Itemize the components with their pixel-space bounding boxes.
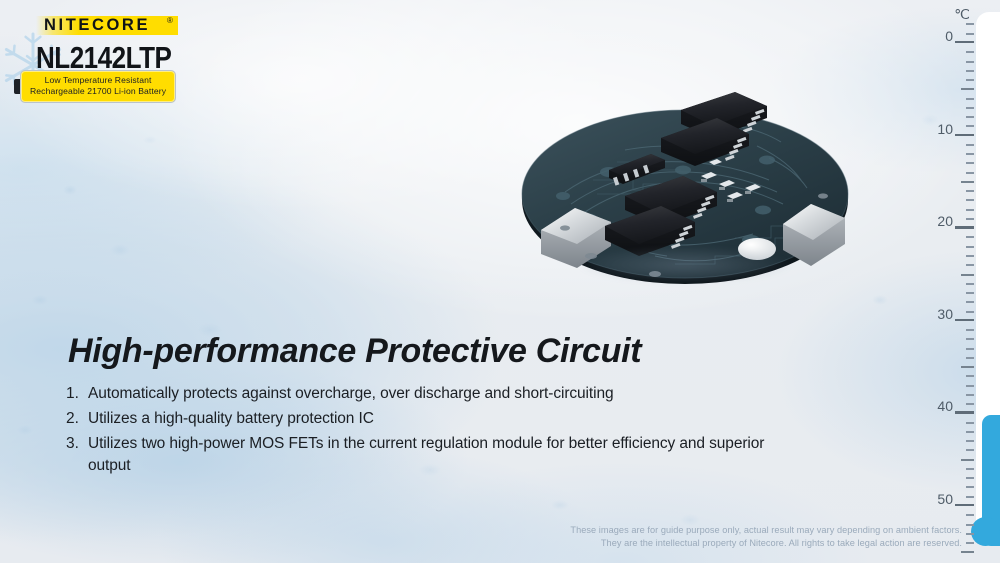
thermometer-tick-mid — [961, 366, 974, 368]
thermometer-tick-minor — [966, 394, 974, 396]
thermometer-tick-minor — [966, 61, 974, 63]
thermometer-tick-major — [955, 226, 974, 228]
thermometer-tick-minor — [966, 144, 974, 146]
thermometer-tick-mid — [961, 551, 974, 553]
thermometer-tick-minor — [966, 116, 974, 118]
thermometer-tick-minor — [966, 153, 974, 155]
pcb-drop-shadow — [535, 238, 835, 292]
product-slide: NITECORE ® NL2142LTP Low Temperature Res… — [0, 0, 1000, 563]
list-item: 3. Utilizes two high-power MOS FETs in t… — [66, 433, 766, 477]
thermometer-tick-mid — [961, 88, 974, 90]
thermometer-tick-minor — [966, 514, 974, 516]
list-item-text: Utilizes two high-power MOS FETs in the … — [88, 433, 766, 477]
badge-line-2: Rechargeable 21700 Li-ion Battery — [30, 86, 166, 97]
thermometer-tick-label: 50 — [937, 491, 953, 507]
thermometer-tick-minor — [966, 375, 974, 377]
feature-list: 1. Automatically protects against overch… — [66, 383, 766, 480]
thermometer-tick-major — [955, 411, 974, 413]
thermometer-tick-minor — [966, 23, 974, 25]
thermometer-tick-minor — [966, 311, 974, 313]
disclaimer: These images are for guide purpose only,… — [402, 524, 962, 549]
list-item-text: Automatically protects against overcharg… — [88, 383, 614, 405]
thermometer-tick-label: 0 — [945, 28, 953, 44]
thermometer-tick-mid — [961, 274, 974, 276]
pcb-illustration — [505, 88, 865, 303]
thermometer-tick-minor — [966, 70, 974, 72]
list-item: 1. Automatically protects against overch… — [66, 383, 766, 405]
list-item-number: 3. — [66, 433, 88, 455]
registered-trademark-icon: ® — [167, 16, 173, 26]
thermometer-tick-minor — [966, 496, 974, 498]
thermometer-tick-major — [955, 319, 974, 321]
thermometer-tick-minor — [966, 162, 974, 164]
page-title: High-performance Protective Circuit — [68, 332, 641, 371]
thermometer-tick-minor — [966, 533, 974, 535]
thermometer-tick-minor — [966, 292, 974, 294]
badge-line-1: Low Temperature Resistant — [30, 75, 166, 86]
thermometer-tick-minor — [966, 33, 974, 35]
thermometer-scale: ℃ 01020304050 — [938, 0, 1000, 563]
battery-badge: Low Temperature Resistant Rechargeable 2… — [14, 70, 176, 103]
thermometer-tick-minor — [966, 431, 974, 433]
thermometer-tick-minor — [966, 125, 974, 127]
thermometer-tick-minor — [966, 329, 974, 331]
thermometer-tick-minor — [966, 524, 974, 526]
thermometer-tick-mid — [961, 459, 974, 461]
thermometer-ticks: 01020304050 — [938, 0, 1000, 563]
thermometer-tick-minor — [966, 218, 974, 220]
list-item: 2. Utilizes a high-quality battery prote… — [66, 408, 766, 430]
list-item-number: 2. — [66, 408, 88, 430]
thermometer-tick-minor — [966, 79, 974, 81]
logo-wordmark: NITECORE — [44, 16, 150, 35]
thermometer-tick-minor — [966, 440, 974, 442]
thermometer-tick-minor — [966, 338, 974, 340]
list-item-text: Utilizes a high-quality battery protecti… — [88, 408, 374, 430]
thermometer-tick-minor — [966, 199, 974, 201]
thermometer-tick-mid — [961, 181, 974, 183]
thermometer-tick-label: 10 — [937, 121, 953, 137]
thermometer-tick-minor — [966, 422, 974, 424]
thermometer-tick-minor — [966, 209, 974, 211]
thermometer-tick-minor — [966, 542, 974, 544]
thermometer-tick-minor — [966, 301, 974, 303]
thermometer-tick-label: 40 — [937, 398, 953, 414]
thermometer-tick-minor — [966, 172, 974, 174]
thermometer-tick-minor — [966, 348, 974, 350]
thermometer-tick-major — [955, 504, 974, 506]
thermometer-tick-minor — [966, 98, 974, 100]
thermometer-tick-minor — [966, 190, 974, 192]
thermometer-tick-minor — [966, 51, 974, 53]
thermometer-tick-minor — [966, 236, 974, 238]
thermometer-tick-minor — [966, 283, 974, 285]
thermometer-tick-minor — [966, 357, 974, 359]
disclaimer-line-1: These images are for guide purpose only,… — [402, 524, 962, 536]
disclaimer-line-2: They are the intellectual property of Ni… — [402, 537, 962, 549]
thermometer-tick-minor — [966, 385, 974, 387]
thermometer-tick-minor — [966, 264, 974, 266]
thermometer-tick-minor — [966, 246, 974, 248]
thermometer-tick-minor — [966, 477, 974, 479]
nitecore-logo: NITECORE ® — [36, 14, 260, 38]
thermometer-tick-minor — [966, 107, 974, 109]
thermometer-tick-major — [955, 41, 974, 43]
list-item-number: 1. — [66, 383, 88, 405]
battery-badge-body: Low Temperature Resistant Rechargeable 2… — [20, 70, 176, 103]
thermometer-tick-major — [955, 134, 974, 136]
thermometer-tick-label: 30 — [937, 306, 953, 322]
thermometer-tick-minor — [966, 449, 974, 451]
brand-block: NITECORE ® NL2142LTP — [30, 14, 260, 76]
thermometer-tick-minor — [966, 486, 974, 488]
thermometer-tick-label: 20 — [937, 213, 953, 229]
thermometer-tick-minor — [966, 468, 974, 470]
thermometer-tick-minor — [966, 403, 974, 405]
thermometer-tick-minor — [966, 255, 974, 257]
